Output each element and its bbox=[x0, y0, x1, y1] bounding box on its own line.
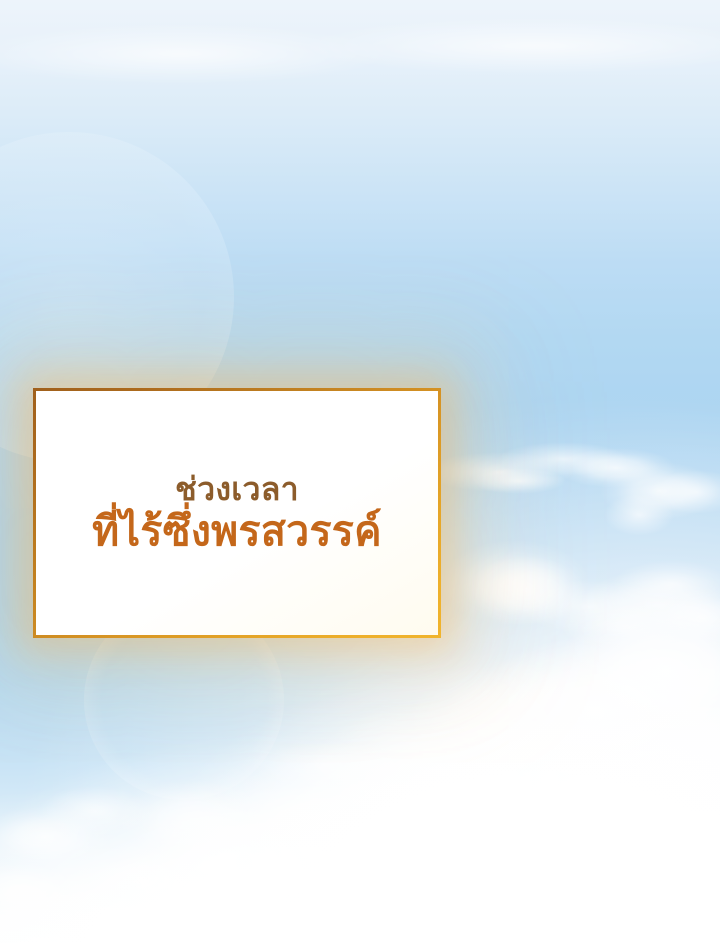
title-card-inner: ช่วงเวลา ที่ไร้ซึ่งพรสวรรค์ bbox=[36, 391, 438, 635]
lens-flare-small-icon bbox=[236, 853, 252, 875]
title-card: ช่วงเวลา ที่ไร้ซึ่งพรสวรรค์ bbox=[33, 388, 441, 638]
title-line-2: ที่ไร้ซึ่งพรสวรรค์ bbox=[36, 511, 438, 553]
title-line-1: ช่วงเวลา bbox=[36, 473, 438, 506]
webtoon-panel: ช่วงเวลา ที่ไร้ซึ่งพรสวรรค์ bbox=[0, 0, 720, 943]
